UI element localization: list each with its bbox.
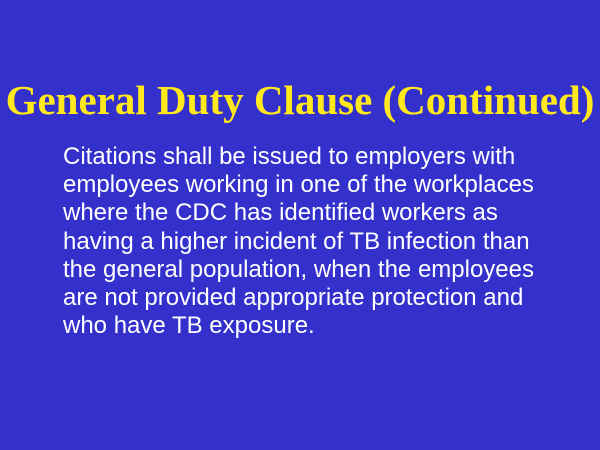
- body-line: Citations shall be issued to employers w…: [63, 143, 549, 171]
- body-line: where the CDC has identified workers as: [63, 199, 549, 227]
- body-line: who have TB exposure.: [63, 312, 549, 340]
- body-line: employees working in one of the workplac…: [63, 171, 549, 199]
- body-line: the general population, when the employe…: [63, 256, 549, 284]
- slide-title: General Duty Clause (Continued): [0, 77, 600, 123]
- presentation-slide: General Duty Clause (Continued) Citation…: [0, 0, 600, 450]
- slide-body-text: Citations shall be issued to employers w…: [63, 143, 549, 340]
- body-line: having a higher incident of TB infection…: [63, 228, 549, 256]
- body-line: are not provided appropriate protection …: [63, 284, 549, 312]
